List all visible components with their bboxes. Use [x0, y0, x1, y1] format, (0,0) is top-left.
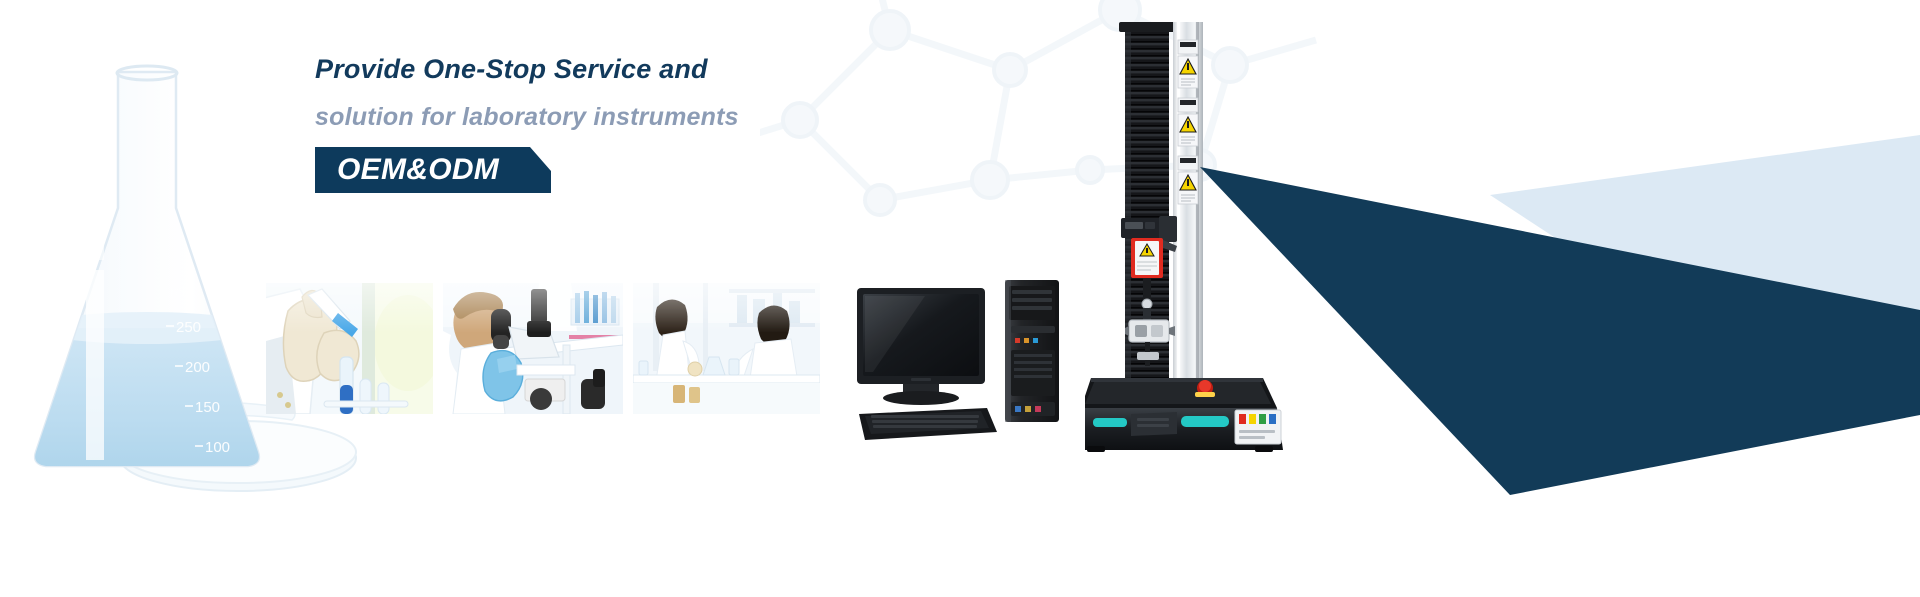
hero-banner: mL 250 200 150 100 Provide One-Stop Serv…	[0, 0, 1920, 597]
photo-microscope	[443, 283, 623, 414]
tower-icon	[1005, 280, 1059, 422]
microscope-icon	[443, 283, 623, 414]
keyboard-icon	[859, 408, 997, 440]
pipette-icon	[266, 283, 433, 414]
graduation-100: 100	[205, 439, 230, 456]
graduation-150: 150	[195, 399, 220, 416]
headline-line-1: Provide One-Stop Service and	[315, 55, 955, 83]
warning-labels-group	[1178, 40, 1198, 204]
lab-bench-icon	[633, 283, 820, 414]
machine-base	[1085, 378, 1283, 452]
warning-label-2	[1178, 98, 1198, 146]
graduation-200: 200	[185, 359, 210, 376]
photo-pipetting	[266, 283, 433, 414]
light-blue-arrow	[1490, 135, 1920, 355]
universal-testing-machine	[1085, 22, 1285, 452]
monitor-icon	[857, 288, 985, 405]
warning-label-1	[1178, 40, 1198, 88]
oem-odm-badge: OEM&ODM	[315, 147, 551, 193]
oem-odm-badge-label: OEM&ODM	[337, 153, 499, 187]
graduation-unit: mL	[170, 283, 191, 300]
accent-shapes	[1180, 95, 1920, 495]
headline-line-2: solution for laboratory instruments	[315, 104, 955, 130]
warning-label-3	[1178, 156, 1198, 204]
computer-workstation	[855, 280, 1070, 450]
headline-block: Provide One-Stop Service and solution fo…	[315, 55, 955, 198]
photo-lab-bench	[633, 283, 820, 414]
graduation-250: 250	[176, 319, 201, 336]
lab-photo-strip	[266, 283, 820, 414]
dark-navy-arrow	[1200, 167, 1920, 495]
